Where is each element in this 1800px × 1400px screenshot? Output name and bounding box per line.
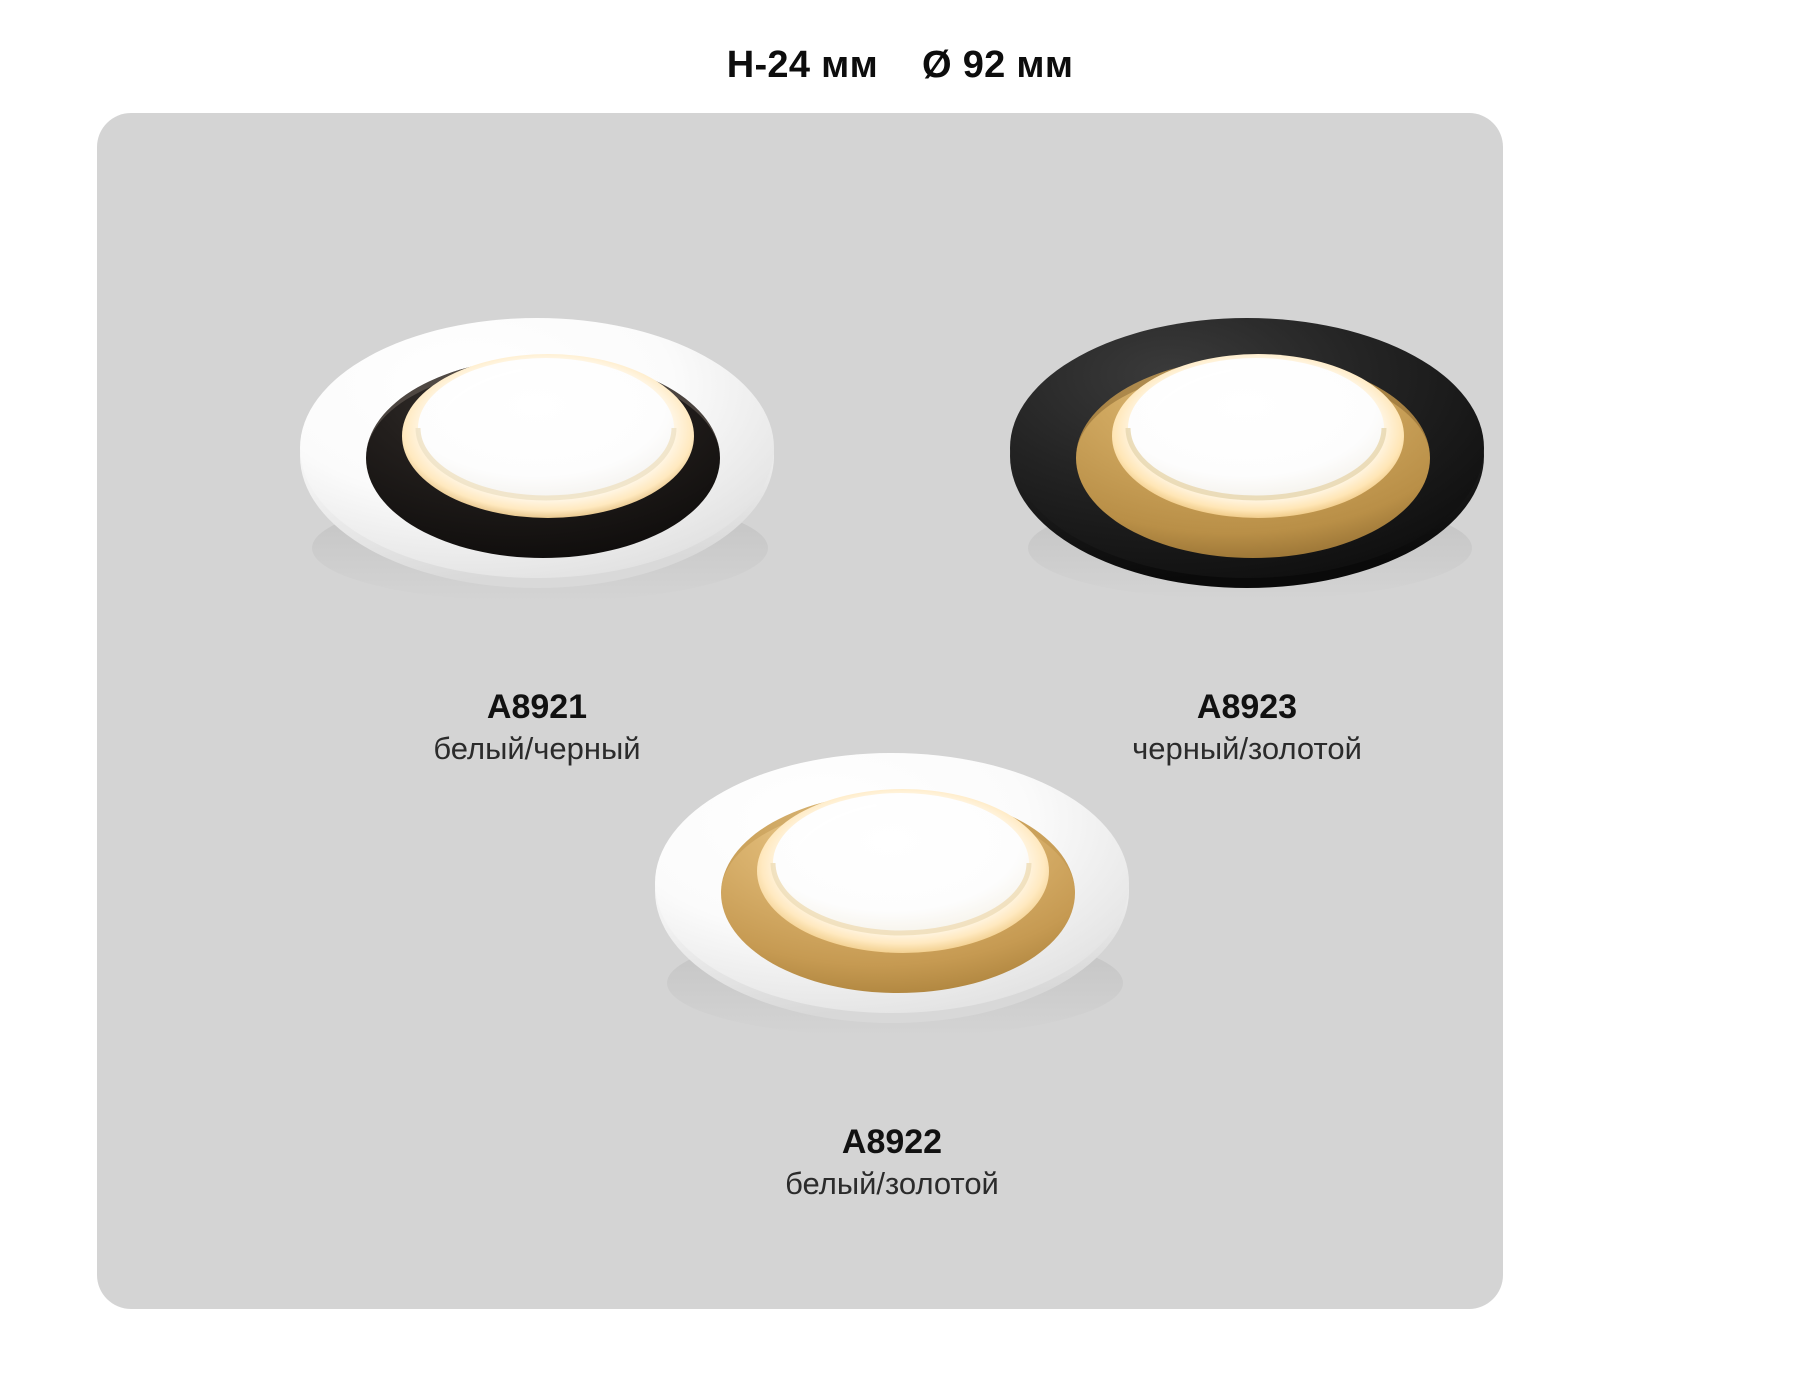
product-card-panel: A8921 белый/черный <box>97 113 1503 1309</box>
downlight-illustration <box>627 743 1157 1043</box>
product-description: белый/золотой <box>602 1161 1182 1208</box>
product-catalog-page: H-24 ммØ 92 мм <box>0 0 1800 1400</box>
product-code: A8921 <box>247 690 827 726</box>
downlight-illustration <box>272 308 802 608</box>
diameter-spec: Ø 92 мм <box>922 44 1073 86</box>
height-spec: H-24 мм <box>727 44 878 86</box>
lamp-image-a8921 <box>272 308 802 608</box>
page-title: H-24 ммØ 92 мм <box>0 44 1800 87</box>
product-item-a8922[interactable]: A8922 белый/золотой <box>602 733 1182 1253</box>
product-caption-a8922: A8922 белый/золотой <box>602 1125 1182 1207</box>
product-code: A8923 <box>957 690 1537 726</box>
lamp-image-a8923 <box>982 308 1512 608</box>
lamp-image-a8922 <box>627 743 1157 1043</box>
downlight-illustration <box>982 308 1512 608</box>
product-code: A8922 <box>602 1125 1182 1161</box>
